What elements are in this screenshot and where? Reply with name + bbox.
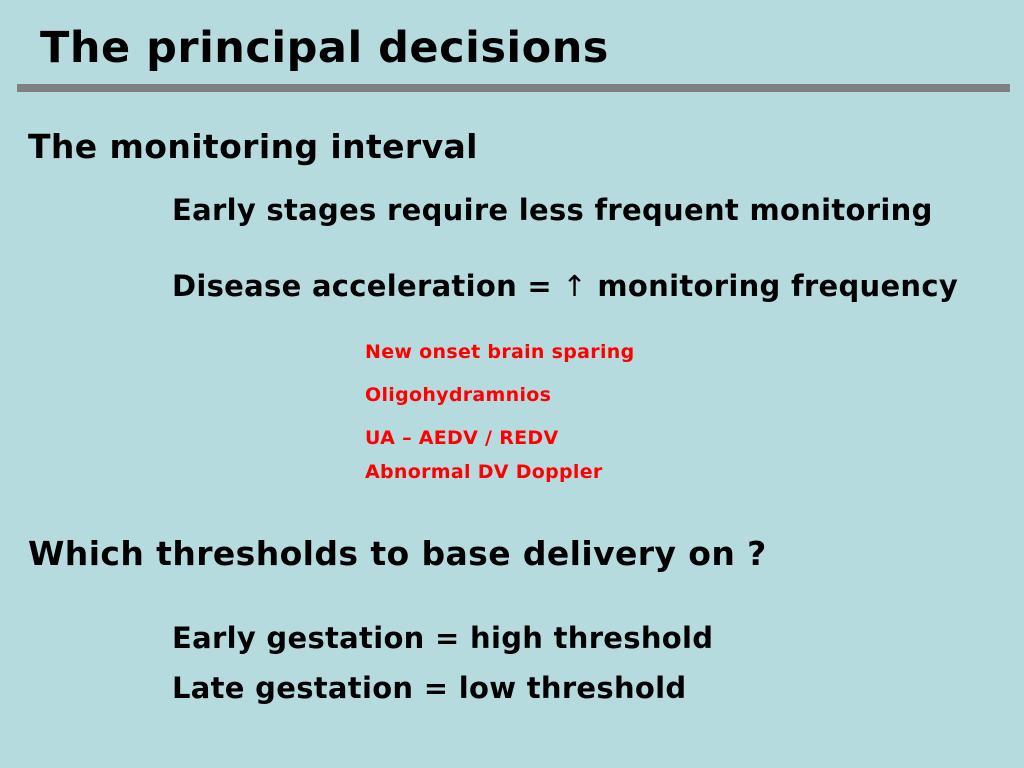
list-item: Oligohydramnios <box>365 385 635 406</box>
list-item: Abnormal DV Doppler <box>365 462 635 483</box>
bullet-disease-acceleration-prefix: Disease acceleration = <box>172 269 562 303</box>
up-arrow-icon: ↑ <box>562 269 587 303</box>
bullet-disease-acceleration: Disease acceleration = ↑ monitoring freq… <box>172 270 958 303</box>
section-heading-thresholds: Which thresholds to base delivery on ? <box>28 535 767 573</box>
slide-canvas: The principal decisions The monitoring i… <box>0 0 1024 768</box>
section-heading-monitoring-interval: The monitoring interval <box>28 128 478 166</box>
page-title: The principal decisions <box>40 24 609 73</box>
bullet-early-gestation: Early gestation = high threshold <box>172 622 713 655</box>
bullet-disease-acceleration-suffix: monitoring frequency <box>587 269 958 303</box>
list-item: New onset brain sparing <box>365 342 635 363</box>
bullet-late-gestation: Late gestation = low threshold <box>172 672 686 705</box>
list-item: UA – AEDV / REDV <box>365 428 635 449</box>
red-criteria-list: New onset brain sparing Oligohydramnios … <box>365 342 635 483</box>
title-divider <box>17 84 1010 92</box>
bullet-early-stages: Early stages require less frequent monit… <box>172 194 933 227</box>
